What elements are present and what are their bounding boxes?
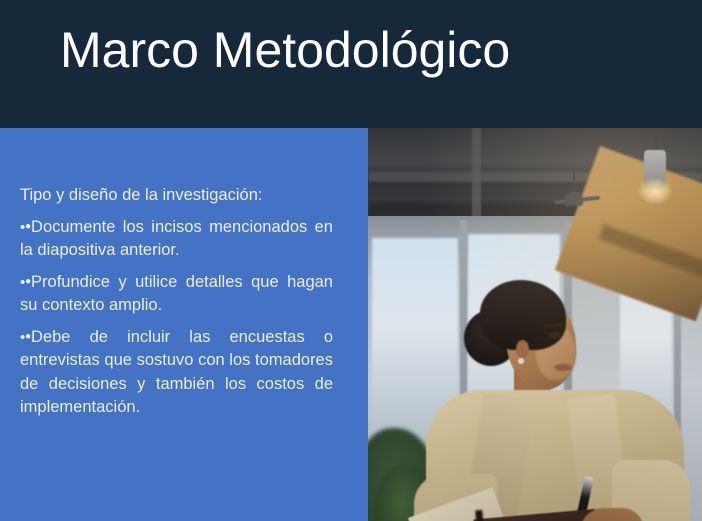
slide: Marco Metodológico Tipo y diseño de la i… <box>0 0 702 521</box>
earring <box>518 358 524 364</box>
body-copy: Tipo y diseño de la investigación: •Docu… <box>20 184 333 420</box>
content-panel: Tipo y diseño de la investigación: •Docu… <box>0 128 368 521</box>
ear <box>516 340 529 358</box>
pendant-lamp <box>564 192 583 206</box>
lead-paragraph: Tipo y diseño de la investigación: <box>20 184 333 208</box>
bullet-item-2: •Profundice y utilice detalles que hagan… <box>20 271 333 318</box>
pendant-lamp-glow <box>638 178 672 204</box>
bullet-item-3: •Debe de incluir las encuestas o entrevi… <box>20 326 333 420</box>
lips <box>554 364 572 371</box>
photo-businesswoman <box>368 128 702 521</box>
page-title: Marco Metodológico <box>60 24 510 77</box>
title-band: Marco Metodológico <box>0 0 702 128</box>
eye <box>548 332 561 339</box>
ceiling-post <box>472 128 481 220</box>
bullet-item-1: •Documente los incisos mencionados en la… <box>20 216 333 263</box>
